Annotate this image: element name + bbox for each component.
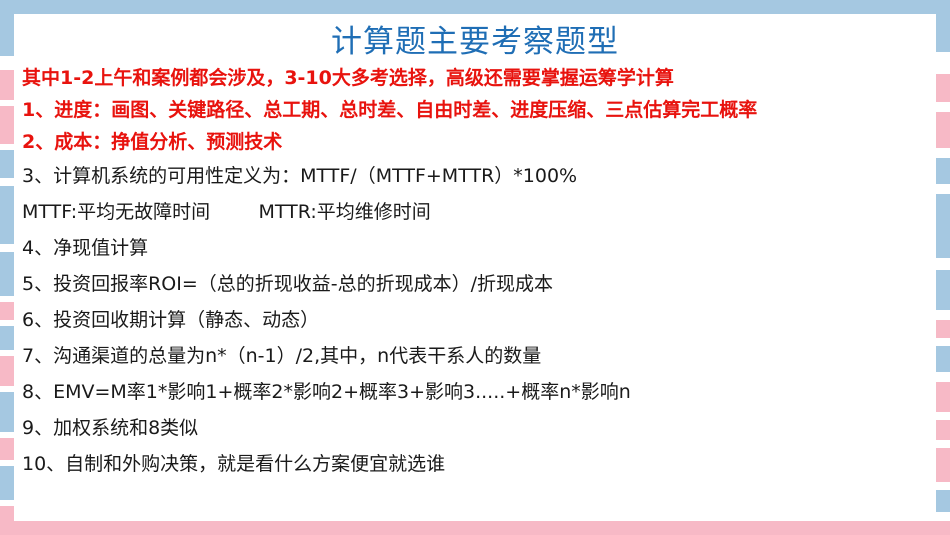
frame-right-strip <box>936 0 950 535</box>
frame-block <box>936 14 950 52</box>
frame-block <box>0 506 14 521</box>
frame-block <box>0 186 14 244</box>
frame-block <box>936 194 950 258</box>
frame-block <box>936 158 950 184</box>
frame-block <box>936 448 950 482</box>
frame-block <box>0 252 14 296</box>
text-line-item-6: 6、投资回收期计算（静态、动态） <box>22 302 932 338</box>
text-line-item-3: 3、计算机系统的可用性定义为：MTTF/（MTTF+MTTR）*100% <box>22 158 932 194</box>
text-line-item-4: 4、净现值计算 <box>22 230 932 266</box>
text-line-intro: 其中1-2上午和案例都会涉及，3-10大多考选择，高级还需要掌握运筹学计算 <box>22 62 932 94</box>
frame-bottom-band <box>0 521 950 535</box>
frame-block <box>0 302 14 320</box>
slide-content: 计算题主要考察题型 其中1-2上午和案例都会涉及，3-10大多考选择，高级还需要… <box>14 14 936 521</box>
text-line-item-9: 9、加权系统和8类似 <box>22 410 932 446</box>
page-title: 计算题主要考察题型 <box>14 16 936 61</box>
frame-block <box>0 356 14 386</box>
frame-block <box>0 438 14 460</box>
frame-top-band <box>0 0 950 14</box>
frame-block <box>0 70 14 100</box>
frame-block <box>936 270 950 310</box>
frame-block <box>0 326 14 350</box>
text-line-item-8: 8、EMV=M率1*影响1+概率2*影响2+概率3+影响3.....+概率n*影… <box>22 374 932 410</box>
slide-canvas: 计算题主要考察题型 其中1-2上午和案例都会涉及，3-10大多考选择，高级还需要… <box>0 0 950 535</box>
frame-block <box>0 150 14 178</box>
text-line-item-10: 10、自制和外购决策，就是看什么方案便宜就选谁 <box>22 446 932 482</box>
frame-block <box>936 490 950 512</box>
frame-block <box>936 346 950 372</box>
text-line-item-1: 1、进度：画图、关键路径、总工期、总时差、自由时差、进度压缩、三点估算完工概率 <box>22 94 922 126</box>
frame-block <box>936 74 950 102</box>
frame-block <box>936 320 950 338</box>
frame-block <box>0 106 14 144</box>
body-text-block: 其中1-2上午和案例都会涉及，3-10大多考选择，高级还需要掌握运筹学计算 1、… <box>22 62 932 482</box>
text-line-mttf-note: MTTF:平均无故障时间 MTTR:平均维修时间 <box>22 194 932 230</box>
frame-block <box>0 14 14 56</box>
frame-block <box>936 382 950 412</box>
frame-block <box>936 112 950 148</box>
text-line-item-7: 7、沟通渠道的总量为n*（n-1）/2,其中，n代表干系人的数量 <box>22 338 932 374</box>
frame-block <box>936 420 950 440</box>
frame-left-strip <box>0 0 14 535</box>
frame-block <box>0 466 14 500</box>
text-line-item-5: 5、投资回报率ROI=（总的折现收益-总的折现成本）/折现成本 <box>22 266 932 302</box>
frame-block <box>0 392 14 432</box>
text-line-item-2: 2、成本：挣值分析、预测技术 <box>22 126 932 158</box>
